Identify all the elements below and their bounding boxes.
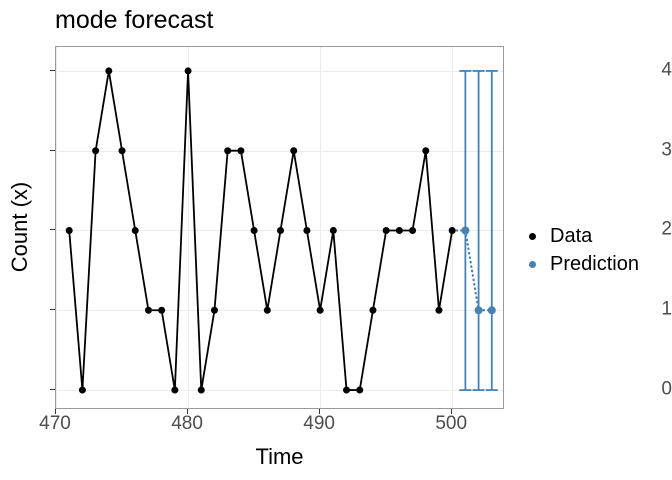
data-series-line xyxy=(69,71,452,390)
data-point xyxy=(264,307,271,314)
data-point xyxy=(303,227,310,234)
x-tick-mark xyxy=(187,409,188,414)
chart-title: mode forecast xyxy=(55,4,213,36)
data-point xyxy=(277,227,284,234)
data-point xyxy=(79,387,86,394)
data-point xyxy=(66,227,73,234)
data-point xyxy=(158,307,165,314)
data-point xyxy=(224,147,231,154)
data-point xyxy=(396,227,403,234)
data-point xyxy=(132,227,139,234)
data-point xyxy=(198,387,205,394)
legend-item-data[interactable]: Data xyxy=(518,222,668,250)
data-point xyxy=(119,147,126,154)
plot-panel xyxy=(55,46,504,409)
data-point xyxy=(251,227,258,234)
data-point xyxy=(211,307,218,314)
prediction-point xyxy=(488,306,496,314)
y-axis-label: Count (x) xyxy=(2,0,38,454)
data-point xyxy=(92,147,99,154)
data-point xyxy=(435,307,442,314)
x-tick-mark xyxy=(55,409,56,414)
x-tick-mark xyxy=(319,409,320,414)
data-point xyxy=(369,307,376,314)
prediction-point xyxy=(461,226,469,234)
data-point xyxy=(330,227,337,234)
x-tick-label: 480 xyxy=(171,414,203,433)
legend-item-prediction[interactable]: Prediction xyxy=(518,250,668,278)
y-tick-label: 4 xyxy=(650,60,672,79)
prediction-point xyxy=(475,306,483,314)
y-tick-label: 0 xyxy=(650,380,672,399)
chart-root: mode forecast Count (x) Time 01234 47048… xyxy=(0,0,672,480)
data-point xyxy=(290,147,297,154)
legend-key-data-icon xyxy=(518,233,546,240)
prediction-series-line xyxy=(452,230,492,310)
prediction-errorbar xyxy=(486,71,498,390)
prediction-errorbar xyxy=(473,71,485,390)
legend-key-prediction-icon xyxy=(518,261,546,268)
data-point xyxy=(409,227,416,234)
data-point xyxy=(383,227,390,234)
x-tick-label: 490 xyxy=(303,414,335,433)
y-axis-label-text: Count (x) xyxy=(7,182,33,272)
x-tick-mark xyxy=(451,409,452,414)
data-point xyxy=(317,307,324,314)
data-point xyxy=(449,227,456,234)
data-point xyxy=(422,147,429,154)
legend: Data Prediction xyxy=(518,222,668,278)
data-point xyxy=(105,67,112,74)
x-tick-label: 470 xyxy=(39,414,71,433)
legend-label-prediction: Prediction xyxy=(546,253,639,276)
data-point xyxy=(237,147,244,154)
data-point xyxy=(171,387,178,394)
data-point xyxy=(145,307,152,314)
x-axis-label: Time xyxy=(55,444,504,470)
y-tick-label: 3 xyxy=(650,140,672,159)
plot-area xyxy=(56,47,504,409)
data-point xyxy=(356,387,363,394)
y-tick-label: 1 xyxy=(650,300,672,319)
data-point xyxy=(343,387,350,394)
data-point xyxy=(185,67,192,74)
legend-label-data: Data xyxy=(546,225,592,248)
x-tick-label: 500 xyxy=(435,414,467,433)
